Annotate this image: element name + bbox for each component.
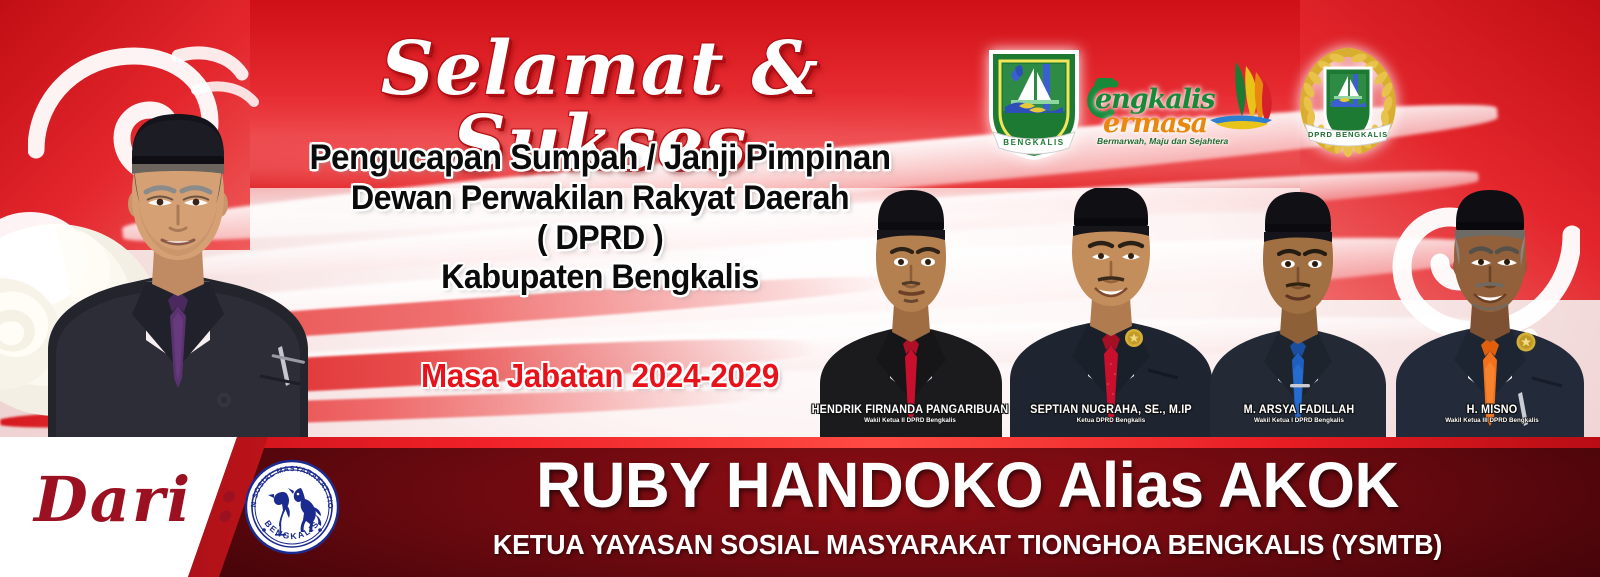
dprd-officials-strip: HENDRIK FIRNANDA PANGARIBUAN Wakil Ketua… bbox=[800, 188, 1600, 440]
portrait-h-misno bbox=[1386, 188, 1594, 440]
portrait-septian-nugraha bbox=[1002, 188, 1220, 440]
official-role: Wakil Ketua II DPRD Bengkalis bbox=[797, 417, 1023, 424]
name-tag-septian: SEPTIAN NUGRAHA, SE., M.IP Ketua DPRD Be… bbox=[1003, 404, 1219, 424]
main-portrait-ruby-handoko bbox=[28, 100, 328, 440]
sender-title: KETUA YAYASAN SOSIAL MASYARAKAT TIONGHOA… bbox=[370, 529, 1565, 561]
svg-text:BENGKALIS: BENGKALIS bbox=[1003, 138, 1065, 147]
bermasa-line-2: ermasa bbox=[1103, 108, 1207, 139]
sender-name: RUBY HANDOKO Alias AKOK bbox=[364, 453, 1572, 517]
bengkalis-regency-shield-logo: BENGKALIS bbox=[985, 44, 1083, 167]
headline-line-1: Pengucapan Sumpah / Janji Pimpinan bbox=[272, 138, 928, 179]
portrait-hendrik-firnanda-pangaribuan bbox=[806, 188, 1016, 440]
bengkalis-bermasa-wordmark: engkalis ermasa Bermarwah, Maju dan Seja… bbox=[1095, 64, 1275, 150]
name-tag-arsya: M. ARSYA FADILLAH Wakil Ketua I DPRD Ben… bbox=[1210, 404, 1389, 424]
footer-top-stripe bbox=[150, 437, 1600, 448]
official-name: HENDRIK FIRNANDA PANGARIBUAN bbox=[797, 404, 1023, 416]
bermasa-tagline: Bermarwah, Maju dan Sejahtera bbox=[1097, 136, 1228, 146]
official-name: H. MISNO bbox=[1398, 404, 1586, 416]
logo-row: BENGKALIS engkalis ermasa Bermarwah, Maj… bbox=[985, 36, 1400, 176]
dprd-bengkalis-emblem-logo: DPRD BENGKALIS bbox=[1295, 46, 1401, 167]
congratulations-banner: Selamat & Sukses Pengucapan Sumpah / Jan… bbox=[0, 0, 1600, 577]
official-name: SEPTIAN NUGRAHA, SE., M.IP bbox=[1003, 404, 1219, 416]
ysmtb-seal: YAYASAN SOSIAL MASYARAKAT TIONGHOA BENGK… bbox=[243, 458, 341, 556]
portrait-m-arsya-fadillah bbox=[1200, 188, 1396, 440]
official-role: Wakil Ketua III DPRD Bengkalis bbox=[1398, 417, 1586, 424]
official-role: Ketua DPRD Bengkalis bbox=[1003, 417, 1219, 424]
name-tag-hendrik: HENDRIK FIRNANDA PANGARIBUAN Wakil Ketua… bbox=[797, 404, 1023, 424]
official-role: Wakil Ketua I DPRD Bengkalis bbox=[1210, 417, 1389, 424]
official-name: M. ARSYA FADILLAH bbox=[1210, 404, 1389, 416]
svg-text:DPRD BENGKALIS: DPRD BENGKALIS bbox=[1308, 130, 1388, 139]
from-label: Dari : bbox=[34, 463, 241, 536]
footer-bar: Dari : YAYASAN SOSIAL MASYARAKAT TIONGHO… bbox=[0, 437, 1600, 577]
name-tag-misno: H. MISNO Wakil Ketua III DPRD Bengkalis bbox=[1398, 404, 1586, 424]
